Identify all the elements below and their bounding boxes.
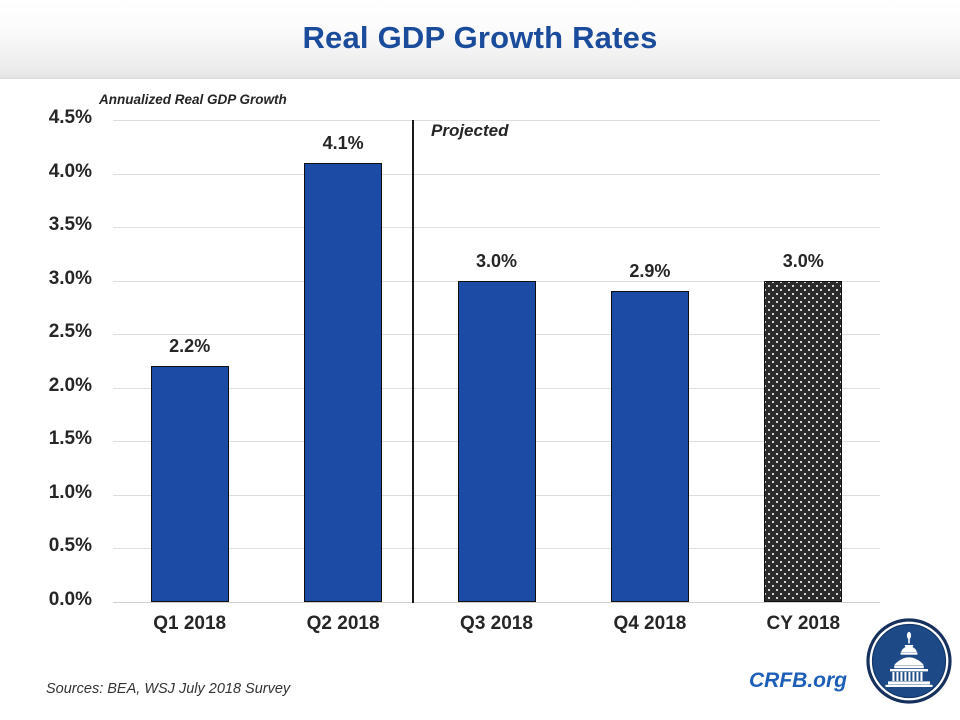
bar-q2-2018[interactable] <box>304 163 382 602</box>
gridline <box>113 174 880 175</box>
chart-subtitle: Annualized Real GDP Growth <box>99 92 287 107</box>
y-axis-tick-label: 3.0% <box>0 268 92 290</box>
bar-q4-2018[interactable] <box>611 291 689 602</box>
gridline <box>113 227 880 228</box>
x-axis-label-q1-2018: Q1 2018 <box>110 613 270 635</box>
x-axis-label-cy-2018: CY 2018 <box>723 613 883 635</box>
y-axis-tick-label: 2.0% <box>0 375 92 397</box>
x-axis-label-q3-2018: Q3 2018 <box>417 613 577 635</box>
plot-area <box>113 120 880 602</box>
page-title: Real GDP Growth Rates <box>0 20 960 56</box>
x-axis-label-q4-2018: Q4 2018 <box>570 613 730 635</box>
y-axis-tick-label: 4.5% <box>0 107 92 129</box>
bar-q1-2018[interactable] <box>151 366 229 602</box>
bar-value-label: 2.9% <box>590 261 710 282</box>
projection-divider-line <box>412 120 414 603</box>
bar-value-label: 2.2% <box>130 336 250 357</box>
capitol-dome-icon[interactable] <box>866 618 952 704</box>
y-axis-tick-label: 2.5% <box>0 321 92 343</box>
sources-note: Sources: BEA, WSJ July 2018 Survey <box>46 681 290 697</box>
bar-q3-2018[interactable] <box>458 281 536 602</box>
y-axis-tick-label: 1.0% <box>0 482 92 504</box>
projected-annotation: Projected <box>431 121 508 141</box>
bar-cy-2018[interactable] <box>764 281 842 602</box>
axis-baseline <box>113 602 880 603</box>
bar-value-label: 4.1% <box>283 133 403 154</box>
crfb-wordmark[interactable]: CRFB.org <box>749 669 847 693</box>
x-axis-label-q2-2018: Q2 2018 <box>263 613 423 635</box>
bar-value-label: 3.0% <box>437 251 557 272</box>
bar-value-label: 3.0% <box>743 251 863 272</box>
y-axis-tick-label: 4.0% <box>0 161 92 183</box>
y-axis-tick-label: 1.5% <box>0 428 92 450</box>
y-axis-tick-label: 3.5% <box>0 214 92 236</box>
y-axis-tick-label: 0.0% <box>0 589 92 611</box>
y-axis-tick-label: 0.5% <box>0 535 92 557</box>
